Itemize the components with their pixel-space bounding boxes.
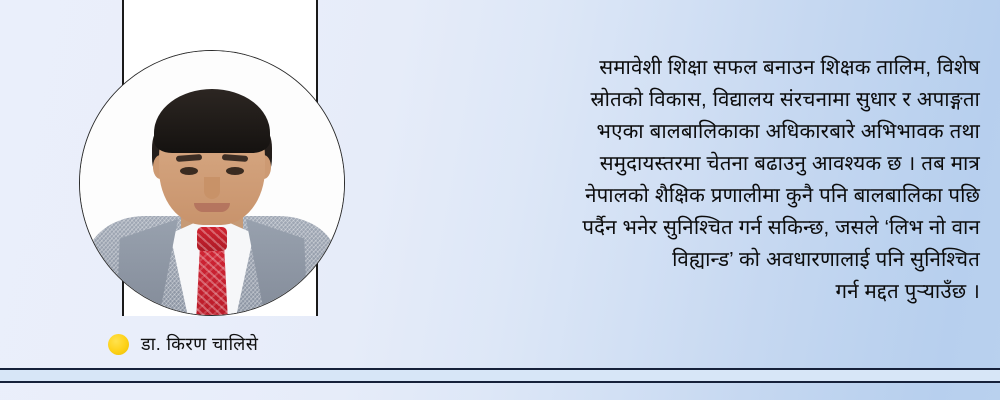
quote-line: भएका बालबालिकाका अधिकारबारे अभिभावक तथा [372, 116, 980, 148]
quote-line: गर्न मद्दत पुऱ्याउँछ । [372, 276, 980, 308]
divider-line-top [0, 368, 1000, 370]
eye-right [226, 167, 244, 175]
quote-text: समावेशी शिक्षा सफल बनाउन शिक्षक तालिम, व… [372, 52, 980, 308]
byline: डा. किरण चालिसे [108, 332, 258, 356]
bullet-dot-icon [108, 334, 129, 355]
eye-left [180, 167, 198, 175]
quote-line: विह्यान्ड’ को अवधारणालाई पनि सुनिश्चित [372, 244, 980, 276]
quote-line: पर्दैन भनेर सुनिश्चित गर्न सकिन्छ, जसले … [372, 212, 980, 244]
quote-line: स्रोतको विकास, विद्यालय संरचनामा सुधार र… [372, 84, 980, 116]
author-name: डा. किरण चालिसे [141, 332, 258, 356]
divider-line-bottom [0, 381, 1000, 383]
quote-card: डा. किरण चालिसे समावेशी शिक्षा सफल बनाउन… [0, 0, 1000, 400]
necktie-knot [197, 227, 227, 251]
quote-line: समावेशी शिक्षा सफल बनाउन शिक्षक तालिम, व… [372, 52, 980, 84]
mouth [194, 203, 230, 212]
quote-line: नेपालको शैक्षिक प्रणालीमा कुनै पनि बालबा… [372, 180, 980, 212]
portrait-image [80, 51, 344, 315]
necktie-body [195, 249, 229, 316]
quote-line: समुदायस्तरमा चेतना बढाउनु आवश्यक छ । तब … [372, 148, 980, 180]
nose [204, 177, 220, 199]
portrait-avatar [79, 50, 345, 316]
hair [154, 89, 270, 153]
divider-band [0, 370, 1000, 381]
